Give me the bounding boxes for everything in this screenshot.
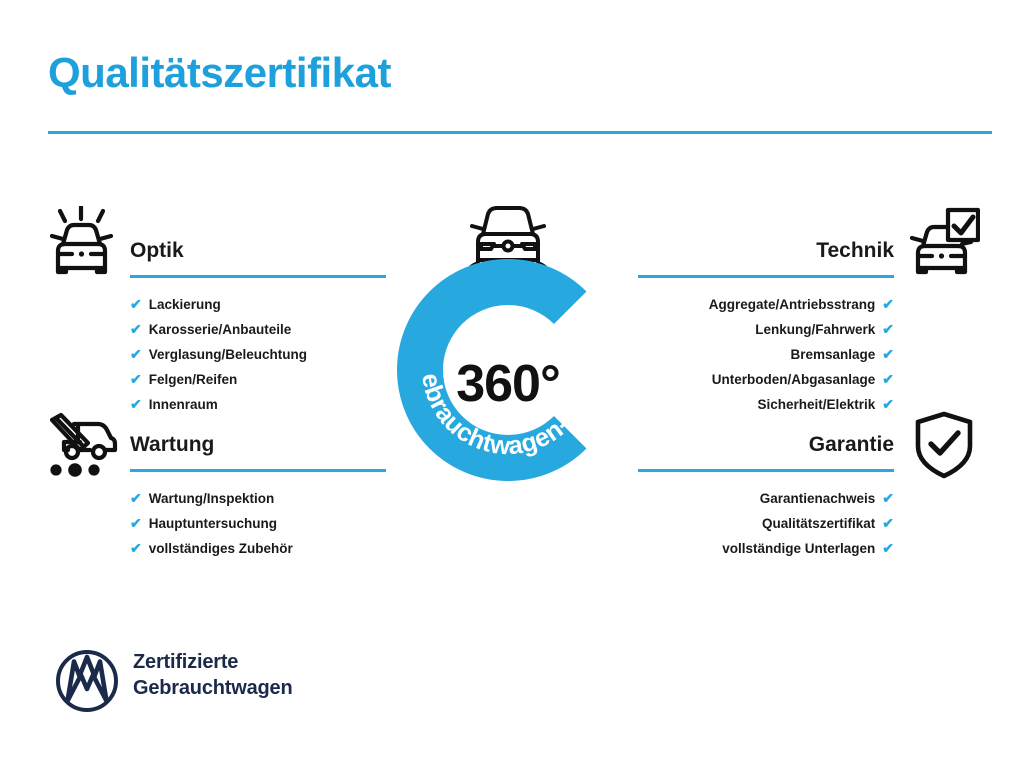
section-optik-list: ✔Lackierung ✔Karosserie/Anbauteile ✔Verg…	[130, 292, 386, 417]
check-icon: ✔	[130, 540, 142, 556]
section-wartung-title: Wartung	[130, 432, 386, 458]
section-optik-header: Optik	[130, 238, 386, 278]
list-item: ✔Hauptuntersuchung	[130, 511, 386, 536]
section-garantie-header: Garantie	[638, 432, 894, 472]
list-item-label: vollständige Unterlagen	[722, 541, 875, 556]
section-optik: Optik ✔Lackierung ✔Karosserie/Anbauteile…	[130, 238, 386, 417]
list-item-label: Qualitätszertifikat	[762, 516, 875, 531]
check-icon: ✔	[130, 515, 142, 531]
section-garantie-title: Garantie	[638, 432, 894, 458]
car-checkbox-icon	[908, 206, 980, 281]
shield-check-icon	[912, 410, 976, 485]
title-divider	[48, 131, 992, 134]
section-optik-divider	[130, 275, 386, 278]
gebrauchtwagen-check-badge: Gebrauchtwagen-Check 360°	[368, 250, 648, 510]
list-item: Sicherheit/Elektrik✔	[638, 392, 894, 417]
list-item-label: Lackierung	[149, 297, 221, 312]
section-wartung-divider	[130, 469, 386, 472]
check-icon: ✔	[882, 346, 894, 362]
list-item: vollständige Unterlagen✔	[638, 536, 894, 561]
section-garantie: Garantie Garantienachweis✔ Qualitätszert…	[638, 432, 894, 561]
footer-brand-line1: Zertifizierte	[133, 649, 292, 675]
section-garantie-divider	[638, 469, 894, 472]
list-item: ✔Verglasung/Beleuchtung	[130, 342, 386, 367]
check-icon: ✔	[130, 490, 142, 506]
badge-degrees-label: 360°	[368, 250, 648, 510]
list-item-label: Wartung/Inspektion	[149, 491, 275, 506]
section-wartung: Wartung ✔Wartung/Inspektion ✔Hauptunters…	[130, 432, 386, 561]
list-item-label: Hauptuntersuchung	[149, 516, 277, 531]
list-item-label: vollständiges Zubehör	[149, 541, 293, 556]
list-item: Aggregate/Antriebsstrang✔	[638, 292, 894, 317]
section-technik-title: Technik	[638, 238, 894, 264]
check-icon: ✔	[882, 490, 894, 506]
section-garantie-list: Garantienachweis✔ Qualitätszertifikat✔ v…	[638, 486, 894, 561]
section-wartung-header: Wartung	[130, 432, 386, 472]
volkswagen-logo-icon	[55, 649, 119, 713]
list-item: ✔Lackierung	[130, 292, 386, 317]
footer-brand: Zertifizierte Gebrauchtwagen	[55, 645, 355, 725]
check-icon: ✔	[130, 296, 142, 312]
check-icon: ✔	[882, 515, 894, 531]
footer-brand-text: Zertifizierte Gebrauchtwagen	[133, 649, 292, 701]
list-item-label: Unterboden/Abgasanlage	[712, 372, 876, 387]
list-item: ✔Wartung/Inspektion	[130, 486, 386, 511]
check-icon: ✔	[130, 346, 142, 362]
list-item-label: Innenraum	[149, 397, 218, 412]
section-technik: Technik Aggregate/Antriebsstrang✔ Lenkun…	[638, 238, 894, 417]
list-item-label: Karosserie/Anbauteile	[149, 322, 292, 337]
list-item: Garantienachweis✔	[638, 486, 894, 511]
list-item-label: Garantienachweis	[760, 491, 876, 506]
footer-brand-line2: Gebrauchtwagen	[133, 675, 292, 701]
list-item-label: Aggregate/Antriebsstrang	[709, 297, 876, 312]
check-icon: ✔	[130, 396, 142, 412]
list-item-label: Felgen/Reifen	[149, 372, 238, 387]
list-item: ✔vollständiges Zubehör	[130, 536, 386, 561]
list-item: Bremsanlage✔	[638, 342, 894, 367]
list-item-label: Sicherheit/Elektrik	[757, 397, 875, 412]
list-item-label: Verglasung/Beleuchtung	[149, 347, 307, 362]
page-title: Qualitätszertifikat	[48, 52, 391, 94]
section-optik-title: Optik	[130, 238, 386, 264]
list-item: Lenkung/Fahrwerk✔	[638, 317, 894, 342]
section-technik-divider	[638, 275, 894, 278]
check-icon: ✔	[882, 396, 894, 412]
list-item: ✔Innenraum	[130, 392, 386, 417]
check-icon: ✔	[882, 371, 894, 387]
shiny-car-front-icon	[46, 206, 118, 281]
list-item: Unterboden/Abgasanlage✔	[638, 367, 894, 392]
check-icon: ✔	[882, 321, 894, 337]
section-technik-header: Technik	[638, 238, 894, 278]
check-icon: ✔	[130, 371, 142, 387]
list-item: ✔Karosserie/Anbauteile	[130, 317, 386, 342]
list-item-label: Lenkung/Fahrwerk	[755, 322, 875, 337]
list-item: ✔Felgen/Reifen	[130, 367, 386, 392]
check-icon: ✔	[882, 540, 894, 556]
check-icon: ✔	[882, 296, 894, 312]
check-icon: ✔	[130, 321, 142, 337]
section-technik-list: Aggregate/Antriebsstrang✔ Lenkung/Fahrwe…	[638, 292, 894, 417]
list-item-label: Bremsanlage	[790, 347, 875, 362]
pencil-car-service-icon	[44, 412, 120, 483]
list-item: Qualitätszertifikat✔	[638, 511, 894, 536]
section-wartung-list: ✔Wartung/Inspektion ✔Hauptuntersuchung ✔…	[130, 486, 386, 561]
